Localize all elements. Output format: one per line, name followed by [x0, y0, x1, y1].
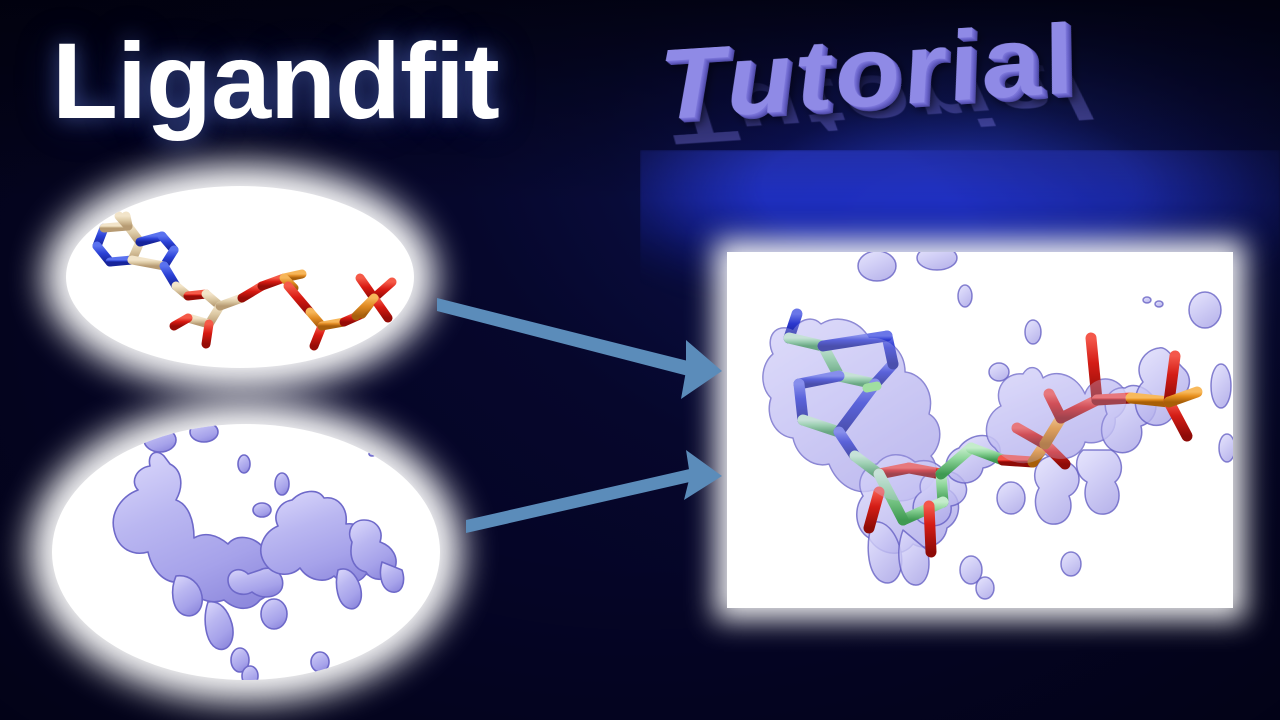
tutorial-text: Tutorial	[658, 0, 1209, 164]
title-card: Ligandfit Tutorial Tutorial	[0, 0, 1280, 720]
ligand-panel	[66, 186, 414, 368]
fitted-ligand-in-density	[727, 252, 1233, 608]
density-panel	[52, 424, 440, 680]
page-title: Ligandfit	[52, 24, 499, 137]
tutorial-wordmark: Tutorial Tutorial	[660, 14, 1220, 284]
result-panel	[727, 252, 1233, 608]
atp-ball-and-stick-model	[66, 186, 414, 368]
electron-density-isosurface	[52, 424, 440, 680]
